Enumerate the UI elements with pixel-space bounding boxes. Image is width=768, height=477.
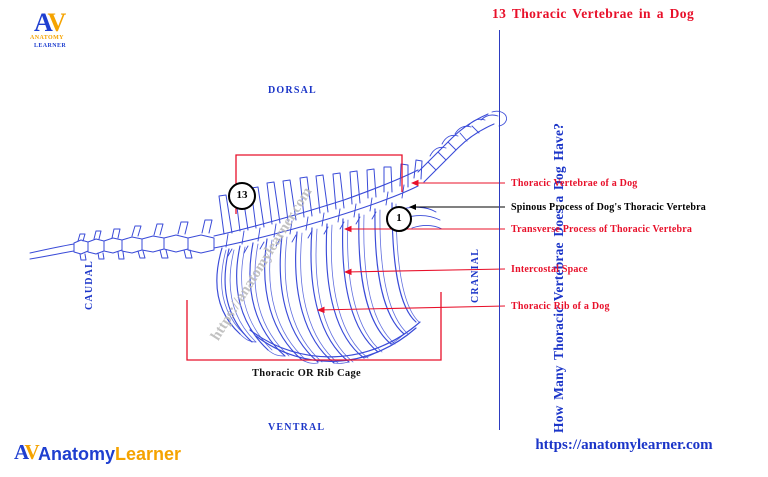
leader-intercostal-space — [345, 269, 505, 272]
vertical-divider — [499, 30, 500, 430]
logo-top-line1: ANATOMY — [30, 35, 64, 41]
logo-mark-icon: AV — [34, 8, 64, 38]
vertical-question-text: How Many Thoracic Vertebrae Does a Dog H… — [551, 3, 567, 433]
logo-bottom: AV AnatomyLearner — [14, 440, 204, 468]
diagram-canvas: https://anatomylearner.com AV ANATOMY LE… — [0, 0, 768, 477]
orientation-label-dorsal: DORSAL — [268, 85, 317, 96]
rib-cage-caption: Thoracic OR Rib Cage — [252, 368, 361, 379]
callout-spinous-process: Spinous Process of Dog's Thoracic Verteb… — [511, 202, 706, 213]
marker-1: 1 — [386, 206, 412, 232]
callout-thoracic-vertebrae: Thoracic Vertebrae of a Dog — [511, 178, 637, 189]
logo-bottom-name: AnatomyLearner — [38, 444, 181, 465]
logo-bottom-mark-icon: AV — [14, 440, 38, 465]
orientation-label-cranial: CRANIAL — [470, 248, 481, 303]
logo-top-line2: LEARNER — [34, 43, 66, 49]
site-url[interactable]: https://anatomylearner.com — [484, 437, 764, 454]
page-title: 13 Thoracic Vertebrae in a Dog — [492, 6, 764, 22]
callout-transverse-process: Transverse Process of Thoracic Vertebra — [511, 224, 692, 235]
leader-thoracic-rib — [318, 306, 505, 310]
orientation-label-caudal: CAUDAL — [84, 260, 95, 310]
callout-thoracic-rib: Thoracic Rib of a Dog — [511, 301, 610, 312]
skeleton-illustration — [0, 0, 768, 477]
orientation-label-ventral: VENTRAL — [268, 422, 325, 433]
callout-intercostal-space: Intercostal Space — [511, 264, 588, 275]
logo-top: AV ANATOMY LEARNER — [22, 8, 78, 56]
marker-13: 13 — [228, 182, 256, 210]
